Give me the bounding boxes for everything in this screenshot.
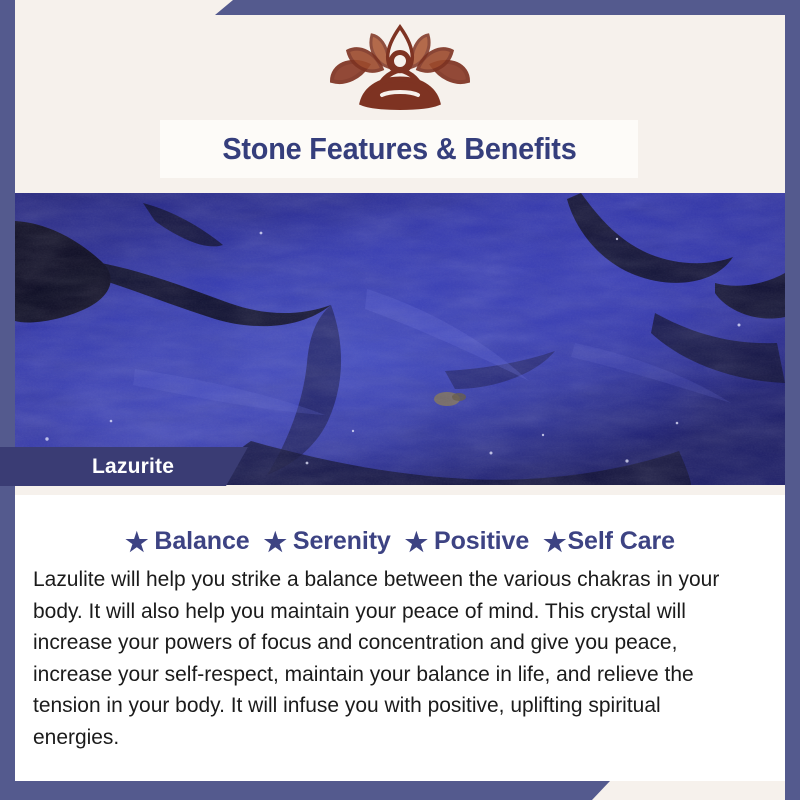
keyword-item-3: ★ Self Care [543, 527, 675, 556]
title-banner: Stone Features & Benefits [160, 120, 638, 178]
keyword-item-1: ★ Serenity [264, 527, 391, 556]
stone-name-tab: Lazurite [0, 447, 248, 486]
frame-border-top [215, 0, 800, 15]
star-icon: ★ [125, 529, 148, 555]
frame-border-right [785, 0, 800, 800]
frame-border-left [0, 0, 15, 800]
star-icon: ★ [543, 529, 566, 555]
frame-border-bottom [0, 781, 610, 800]
stone-name: Lazurite [92, 455, 174, 479]
stone-image [15, 193, 785, 485]
page-title: Stone Features & Benefits [222, 131, 576, 167]
lazurite-texture-graphic [15, 193, 785, 485]
keyword-item-2: ★ Positive [405, 527, 529, 556]
star-icon: ★ [264, 529, 287, 555]
lotus-meditation-figure-icon [312, 21, 488, 113]
content-card: ★ Balance ★ Serenity ★ Positive ★ Self C… [15, 486, 785, 781]
keyword-item-0: ★ Balance [125, 527, 250, 556]
title-banner-holder: Stone Features & Benefits [0, 120, 800, 178]
keyword-label: Balance [154, 527, 249, 556]
keyword-label: Serenity [293, 527, 391, 556]
card-top-strip [15, 486, 785, 495]
keyword-list: ★ Balance ★ Serenity ★ Positive ★ Self C… [15, 527, 785, 556]
keyword-label: Positive [434, 527, 529, 556]
poster-root: BUDDHA STONES Stone Features & Benefits [0, 0, 800, 800]
keyword-label: Self Care [567, 527, 675, 556]
stone-description: Lazulite will help you strike a balance … [33, 564, 753, 753]
star-icon: ★ [405, 529, 428, 555]
